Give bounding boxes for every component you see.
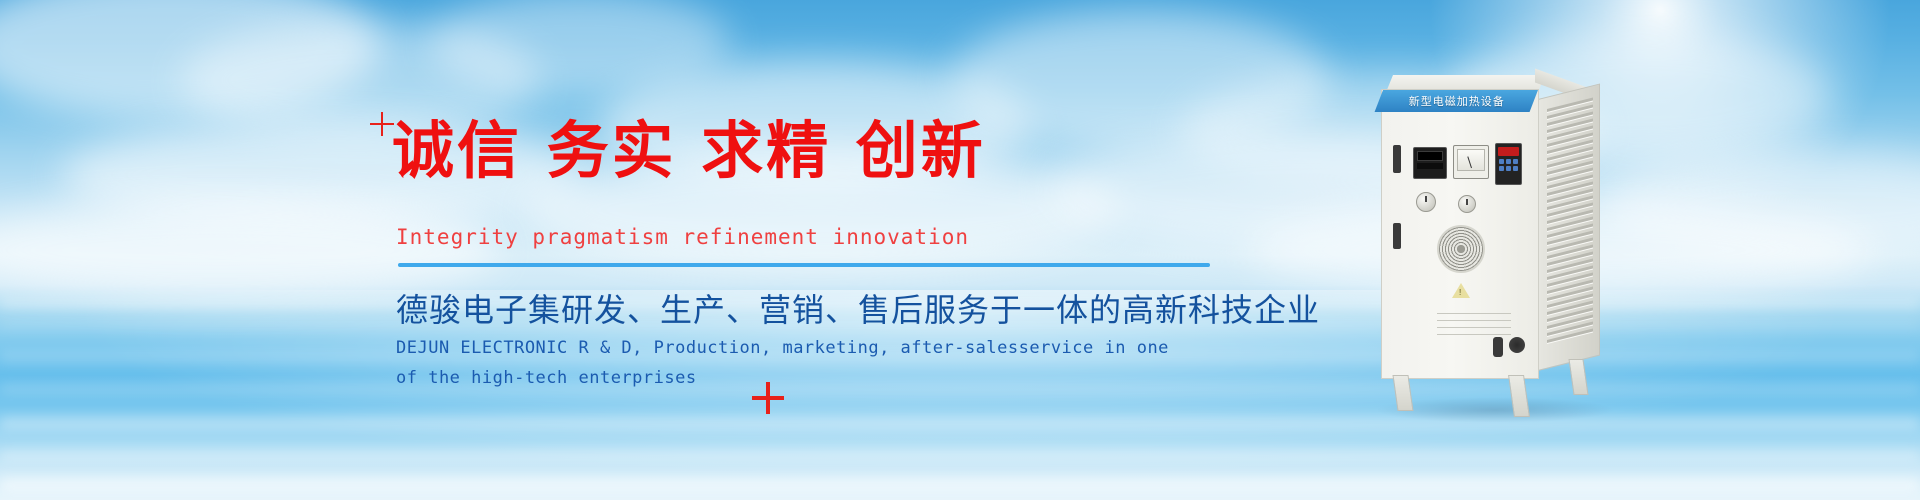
plus-mark-icon (370, 112, 394, 136)
tagline-english-paragraph: DEJUN ELECTRONIC R & D, Production, mark… (396, 333, 1196, 393)
product-label-banner: 新型电磁加热设备 (1375, 90, 1538, 112)
analog-ammeter-gauge (1453, 145, 1489, 179)
cable-port (1493, 337, 1503, 357)
cabinet-leg (1568, 359, 1588, 395)
door-hinge (1393, 145, 1401, 173)
product-label-text: 新型电磁加热设备 (1408, 93, 1504, 109)
divider-line (398, 263, 1210, 267)
digital-temperature-controller (1413, 147, 1447, 179)
tagline-chinese: 德骏电子集研发、生产、营销、售后服务于一体的高新科技企业 (396, 285, 1320, 331)
product-image-heating-equipment: 新型电磁加热设备 (1375, 75, 1625, 435)
headline-chinese: 诚信 务实 求精 创新 (392, 120, 986, 182)
selector-knob (1416, 192, 1436, 212)
ventilation-louvers (1547, 98, 1593, 345)
power-socket (1509, 337, 1525, 353)
tagline-english-line-2: of the high-tech enterprises (396, 363, 1196, 393)
plus-mark-icon (752, 382, 784, 414)
adjustment-knob (1458, 195, 1476, 213)
hero-banner: 诚信 务实 求精 创新 Integrity pragmatism refinem… (0, 0, 1920, 500)
cooling-fan-grille (1437, 225, 1485, 273)
door-hinge (1393, 223, 1401, 249)
banner-copy: 诚信 务实 求精 创新 Integrity pragmatism refinem… (0, 0, 1300, 500)
headline-english: Integrity pragmatism refinement innovati… (396, 225, 969, 249)
tagline-english-line-1: DEJUN ELECTRONIC R & D, Production, mark… (396, 333, 1196, 363)
warning-triangle-icon (1452, 283, 1470, 298)
control-keypad (1495, 143, 1522, 185)
